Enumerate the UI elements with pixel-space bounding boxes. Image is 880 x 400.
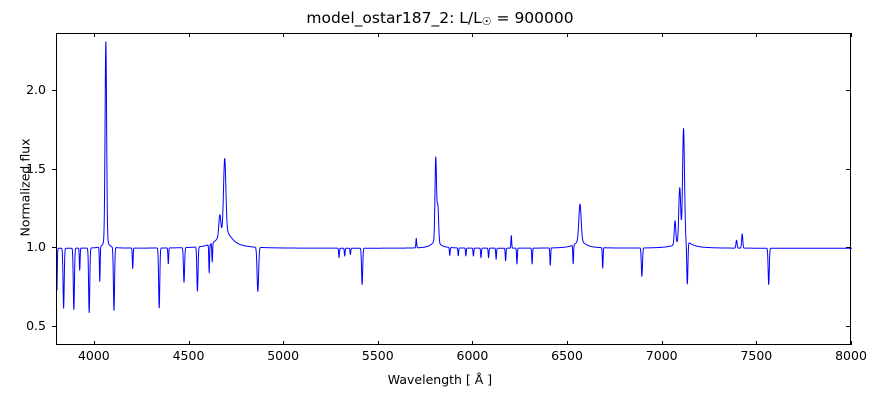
x-axis-tick-label: 8000 (816, 348, 880, 363)
y-axis-tick-right (846, 90, 850, 91)
x-axis-tick-top (189, 33, 190, 37)
x-axis-tick-label: 7500 (721, 348, 791, 363)
y-axis-tick (52, 247, 56, 248)
figure-canvas: model_ostar187_2: L/L☉ = 900000 40004500… (0, 0, 880, 400)
y-axis-tick-right (846, 169, 850, 170)
x-axis-tick-top (567, 33, 568, 37)
y-axis-tick-label: 0.5 (0, 318, 46, 333)
x-axis-tick (94, 341, 95, 345)
chart-title-prefix: model_ostar187_2: L/L (306, 9, 481, 27)
chart-title-suffix: = 900000 (492, 9, 574, 27)
y-axis-tick (52, 326, 56, 327)
x-axis-tick-top (94, 33, 95, 37)
solar-symbol-icon: ☉ (482, 15, 492, 28)
x-axis-tick-top (756, 33, 757, 37)
x-axis-tick (567, 341, 568, 345)
x-axis-tick-top (851, 33, 852, 37)
y-axis-tick-label: 2.0 (0, 82, 46, 97)
x-axis-tick (378, 341, 379, 345)
y-axis-tick (52, 90, 56, 91)
x-axis-tick-label: 6000 (437, 348, 507, 363)
x-axis-tick-label: 5000 (248, 348, 318, 363)
y-axis-label: Normalized flux (18, 108, 33, 268)
x-axis-tick (851, 341, 852, 345)
x-axis-label: Wavelength [ Å ] (0, 372, 880, 387)
y-axis-tick-right (846, 247, 850, 248)
y-axis-tick (52, 169, 56, 170)
x-axis-tick-label: 6500 (532, 348, 602, 363)
x-axis-tick (472, 341, 473, 345)
x-axis-tick (189, 341, 190, 345)
x-axis-tick-label: 4000 (59, 348, 129, 363)
x-axis-tick-label: 7000 (627, 348, 697, 363)
y-axis-tick-right (846, 326, 850, 327)
x-axis-tick-label: 4500 (154, 348, 224, 363)
x-axis-tick-top (283, 33, 284, 37)
x-axis-tick-top (378, 33, 379, 37)
x-axis-tick-top (662, 33, 663, 37)
plot-axes (56, 33, 851, 345)
spectrum-line (57, 42, 852, 313)
x-axis-tick-label: 5500 (343, 348, 413, 363)
x-axis-tick (662, 341, 663, 345)
x-axis-tick (756, 341, 757, 345)
spectrum-plot (57, 34, 852, 346)
chart-title: model_ostar187_2: L/L☉ = 900000 (0, 9, 880, 28)
x-axis-tick-top (472, 33, 473, 37)
x-axis-tick (283, 341, 284, 345)
